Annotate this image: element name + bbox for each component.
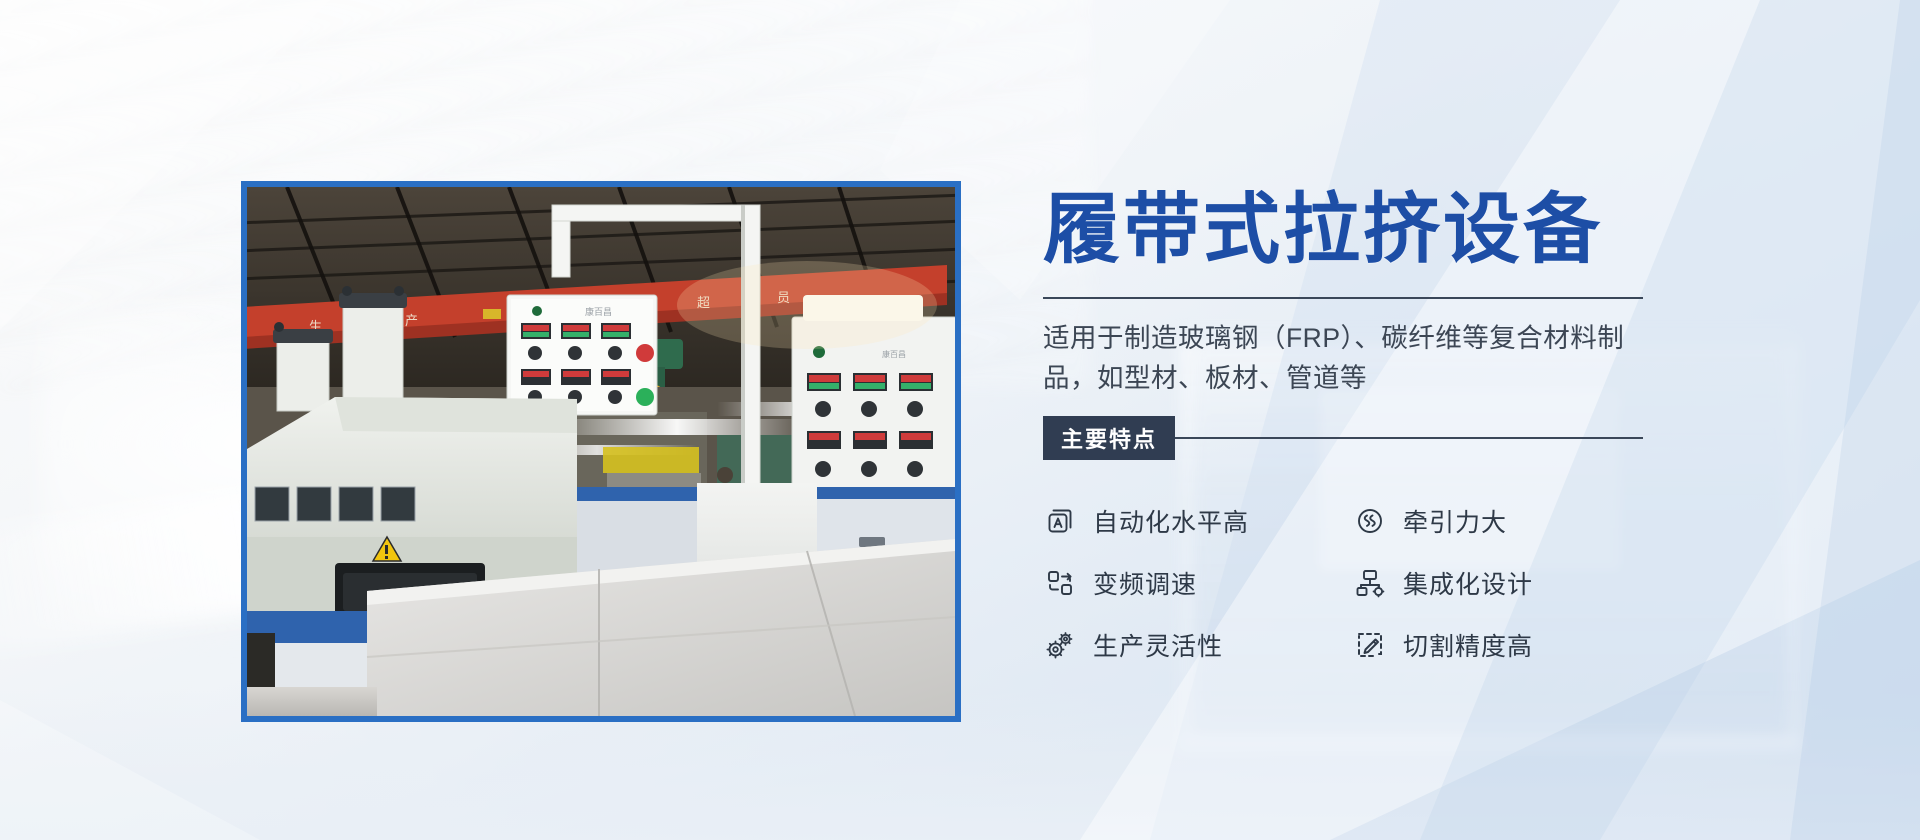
banner-content: 履带式拉挤设备 适用于制造玻璃钢（FRP）、碳纤维等复合材料制品，如型材、板材、… xyxy=(1043,190,1703,676)
feature-label: 变频调速 xyxy=(1093,565,1197,601)
feature-item-integrated-design[interactable]: 集成化设计 xyxy=(1353,552,1663,614)
features-header: 主要特点 xyxy=(1043,416,1643,460)
traction-wave-circle-icon xyxy=(1353,504,1387,538)
feature-item-automation[interactable]: 自动化水平高 xyxy=(1043,490,1353,552)
page-title: 履带式拉挤设备 xyxy=(1043,190,1703,271)
automation-a-icon xyxy=(1043,504,1077,538)
integrated-design-node-gear-icon xyxy=(1353,566,1387,600)
svg-text:产: 产 xyxy=(405,314,418,329)
frequency-speed-icon xyxy=(1043,566,1077,600)
feature-label: 生产灵活性 xyxy=(1093,627,1223,663)
feature-item-cutting-precision[interactable]: 切割精度高 xyxy=(1353,614,1663,676)
feature-label: 集成化设计 xyxy=(1403,565,1533,601)
product-photo-frame: 生 产 产 量 超 员 xyxy=(241,181,961,722)
main-features-badge: 主要特点 xyxy=(1043,416,1175,460)
product-description: 适用于制造玻璃钢（FRP）、碳纤维等复合材料制品，如型材、板材、管道等 xyxy=(1043,319,1659,399)
svg-text:康百昌: 康百昌 xyxy=(882,349,906,359)
product-photo: 生 产 产 量 超 员 xyxy=(247,187,955,716)
feature-item-frequency[interactable]: 变频调速 xyxy=(1043,552,1353,614)
svg-text:康百昌: 康百昌 xyxy=(585,306,612,318)
feature-label: 自动化水平高 xyxy=(1093,503,1249,539)
cutting-precision-pen-icon xyxy=(1353,628,1387,662)
gears-flexibility-icon xyxy=(1043,628,1077,662)
feature-label: 牵引力大 xyxy=(1403,503,1507,539)
feature-list: 自动化水平高 牵引力大 xyxy=(1043,490,1703,676)
title-divider xyxy=(1043,297,1643,299)
feature-item-traction[interactable]: 牵引力大 xyxy=(1353,490,1663,552)
product-hero-banner: 生 产 产 量 超 员 xyxy=(0,0,1920,840)
feature-item-flexibility[interactable]: 生产灵活性 xyxy=(1043,614,1353,676)
feature-label: 切割精度高 xyxy=(1403,627,1533,663)
